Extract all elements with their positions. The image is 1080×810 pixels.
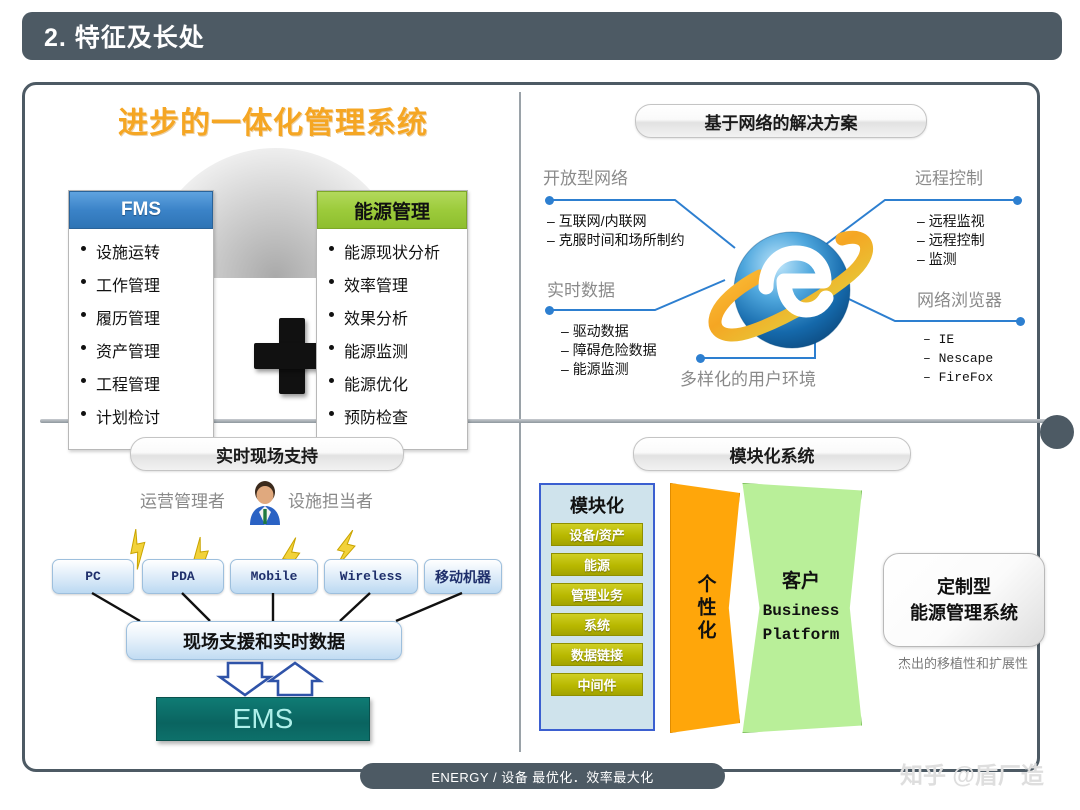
module-slab: 设备/资产 bbox=[551, 523, 643, 546]
module-panel-title: 模块化 bbox=[541, 492, 653, 518]
list-item: 能源现状分析 bbox=[327, 239, 463, 263]
list-item: 克服时间和场所制约 bbox=[547, 231, 685, 250]
customer-platform-chevron: 客户 Business Platform bbox=[740, 483, 862, 733]
slide-root: 2. 特征及长处 进步的一体化管理系统 FMS 设施运转 工作管理 履历管理 资… bbox=[0, 0, 1080, 810]
custom-system-box: 定制型 能源管理系统 bbox=[883, 553, 1045, 647]
fms-card-body: 设施运转 工作管理 履历管理 资产管理 工程管理 计划检讨 bbox=[69, 229, 213, 449]
quadrant-integrated-management: 进步的一体化管理系统 FMS 设施运转 工作管理 履历管理 资产管理 工程管理 … bbox=[30, 90, 516, 415]
branch-dot bbox=[545, 196, 554, 205]
list-item: 设施运转 bbox=[79, 239, 209, 263]
list-item: 效率管理 bbox=[327, 272, 463, 296]
page-title: 2. 特征及长处 bbox=[22, 18, 205, 54]
energy-management-card-header: 能源管理 bbox=[317, 191, 467, 229]
customer-label: 客户 bbox=[782, 566, 820, 593]
footer-bar: ENERGY / 设备 最优化．效率最大化 bbox=[360, 763, 725, 789]
list-item: 监测 bbox=[917, 250, 985, 269]
branch-label-user-environment: 多样化的用户环境 bbox=[680, 365, 816, 390]
branch-label-realtime-data: 实时数据 bbox=[547, 276, 615, 301]
list-item: 能源监测 bbox=[561, 360, 657, 379]
list-item: 远程监视 bbox=[917, 212, 985, 231]
quadrant-modular-system: 模块化系统 模块化 设备/资产 能源 管理业务 系统 数据链接 中间件 个性化 … bbox=[525, 425, 1045, 755]
branch-items-remote-control: 远程监视 远程控制 监测 bbox=[917, 212, 985, 269]
branch-dot bbox=[545, 306, 554, 315]
energy-management-card-body: 能源现状分析 效率管理 效果分析 能源监测 能源优化 预防检查 bbox=[317, 229, 467, 449]
fms-card-header: FMS bbox=[69, 191, 213, 229]
list-item: 资产管理 bbox=[79, 338, 209, 362]
list-item: 效果分析 bbox=[327, 305, 463, 329]
ems-box: EMS bbox=[156, 697, 370, 741]
list-item: 工作管理 bbox=[79, 272, 209, 296]
branch-dot bbox=[1013, 196, 1022, 205]
business-label: Business bbox=[763, 602, 840, 620]
customization-chevron: 个性化 bbox=[670, 483, 740, 733]
branch-label-open-network: 开放型网络 bbox=[543, 164, 628, 189]
support-bar: 现场支援和实时数据 bbox=[126, 621, 402, 660]
list-item: 驱动数据 bbox=[561, 322, 657, 341]
custom-system-line1: 定制型 bbox=[937, 574, 991, 600]
list-item: Nescape bbox=[923, 349, 993, 368]
list-item: 能源优化 bbox=[327, 371, 463, 395]
fms-card: FMS 设施运转 工作管理 履历管理 资产管理 工程管理 计划检讨 bbox=[68, 190, 214, 450]
list-item: 能源监测 bbox=[327, 338, 463, 362]
module-slab: 管理业务 bbox=[551, 583, 643, 606]
custom-system-caption: 杰出的移植性和扩展性 bbox=[883, 653, 1043, 672]
list-item: 互联网/内联网 bbox=[547, 212, 685, 231]
list-item: 工程管理 bbox=[79, 371, 209, 395]
q4-header: 模块化系统 bbox=[633, 437, 911, 471]
branch-label-remote-control: 远程控制 bbox=[915, 164, 983, 189]
quadrant-realtime-site-support: 实时现场支持 运营管理者 设施担当者 PC PDA Mob bbox=[30, 425, 516, 755]
branch-dot bbox=[1016, 317, 1025, 326]
internet-explorer-logo-icon bbox=[700, 195, 875, 370]
branch-items-web-browser: IE Nescape FireFox bbox=[923, 330, 993, 387]
custom-system-line2: 能源管理系统 bbox=[910, 600, 1018, 626]
watermark: 知乎 @盾厂造 bbox=[900, 756, 1044, 790]
module-slab: 能源 bbox=[551, 553, 643, 576]
exchange-arrows-icon bbox=[216, 661, 326, 697]
branch-items-open-network: 互联网/内联网 克服时间和场所制约 bbox=[547, 212, 685, 250]
list-item: 远程控制 bbox=[917, 231, 985, 250]
branch-label-web-browser: 网络浏览器 bbox=[917, 286, 1002, 311]
q1-title: 进步的一体化管理系统 bbox=[30, 98, 516, 142]
module-slab: 中间件 bbox=[551, 673, 643, 696]
platform-label: Platform bbox=[763, 626, 840, 644]
quadrant-network-solution: 基于网络的解决方案 bbox=[525, 90, 1045, 415]
module-slab: 数据链接 bbox=[551, 643, 643, 666]
customization-label: 个性化 bbox=[692, 574, 719, 643]
list-item: FireFox bbox=[923, 368, 993, 387]
list-item: 障碍危险数据 bbox=[561, 341, 657, 360]
list-item: IE bbox=[923, 330, 993, 349]
list-item: 履历管理 bbox=[79, 305, 209, 329]
branch-items-realtime-data: 驱动数据 障碍危险数据 能源监测 bbox=[561, 322, 657, 379]
energy-management-card: 能源管理 能源现状分析 效率管理 效果分析 能源监测 能源优化 预防检查 bbox=[316, 190, 468, 450]
module-slab: 系统 bbox=[551, 613, 643, 636]
module-panel: 模块化 设备/资产 能源 管理业务 系统 数据链接 中间件 bbox=[539, 483, 655, 731]
slide-title-bar: 2. 特征及长处 bbox=[22, 12, 1062, 60]
divider-end-dot bbox=[1040, 415, 1074, 449]
